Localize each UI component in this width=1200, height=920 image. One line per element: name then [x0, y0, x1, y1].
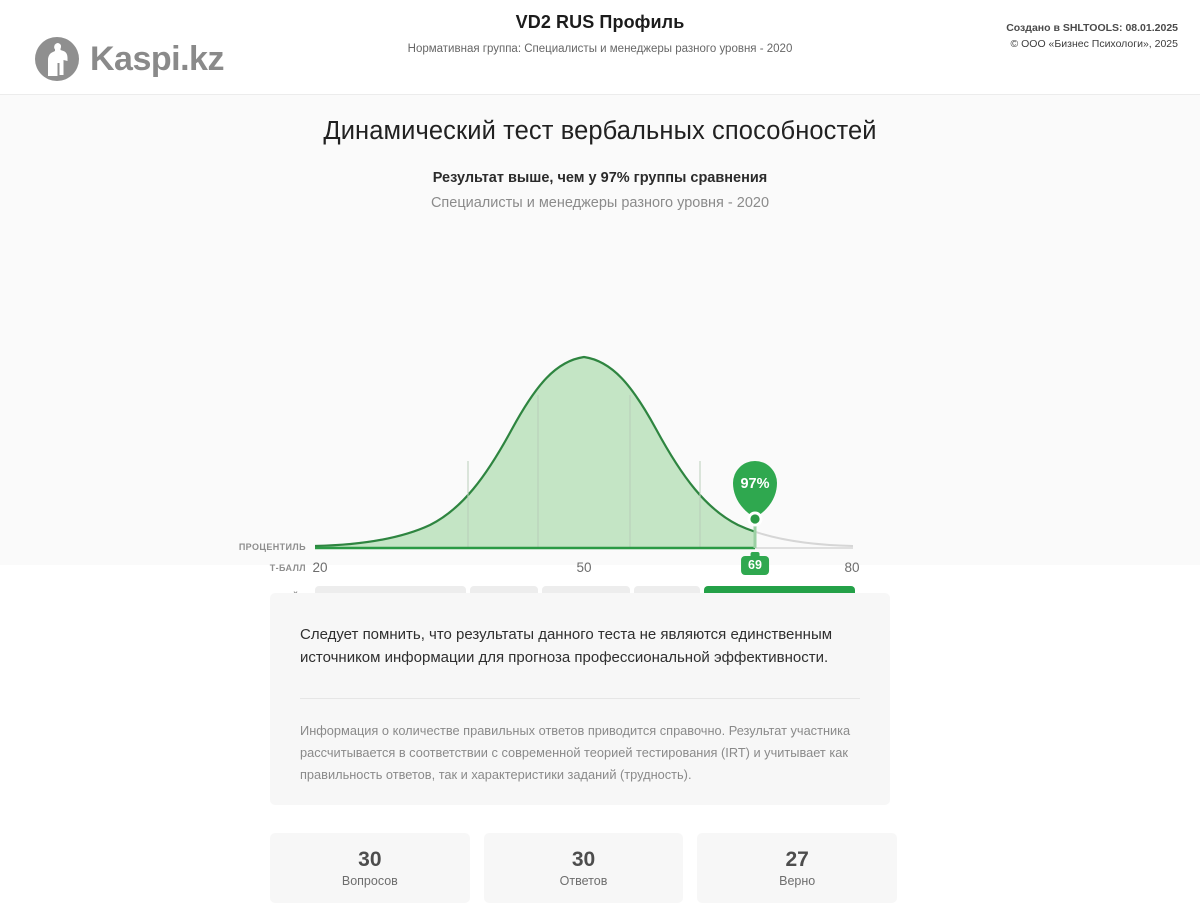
normal-distribution-chart: 97%	[0, 95, 1200, 565]
stat-card-correct: 27 Верно	[697, 833, 897, 903]
page-title: Динамический тест вербальных способносте…	[0, 95, 1200, 146]
stat-value-questions: 30	[358, 849, 381, 870]
marker-dot	[750, 514, 759, 523]
panel-divider	[300, 698, 860, 699]
tscore-tick-80: 80	[844, 560, 859, 575]
stat-card-questions: 30 Вопросов	[270, 833, 470, 903]
marker-dot-halo	[748, 512, 763, 527]
stat-label-questions: Вопросов	[342, 875, 398, 888]
stat-value-correct: 27	[786, 849, 809, 870]
header-meta: Создано в SHLTOOLS: 08.01.2025 © ООО «Би…	[1006, 20, 1178, 53]
distribution-curve-tail	[315, 357, 853, 546]
chart-gridlines	[468, 395, 700, 547]
stats-row: 30 Вопросов 30 Ответов 27 Верно	[270, 833, 897, 903]
comparison-group-label: Специалисты и менеджеры разного уровня -…	[0, 195, 1200, 211]
distribution-fill-area	[315, 357, 853, 548]
percentile-marker-pin: 97%	[733, 461, 777, 518]
chart-section: Динамический тест вербальных способносте…	[0, 95, 1200, 565]
percentile-marker-label: 97%	[740, 476, 769, 492]
tscore-tick-50: 50	[576, 560, 591, 575]
stat-label-answers: Ответов	[560, 875, 608, 888]
disclaimer-main-text: Следует помнить, что результаты данного …	[300, 623, 867, 670]
stat-card-answers: 30 Ответов	[484, 833, 684, 903]
created-timestamp: Создано в SHLTOOLS: 08.01.2025	[1006, 20, 1178, 36]
result-summary: Результат выше, чем у 97% группы сравнен…	[0, 170, 1200, 186]
tscore-result-badge: 69	[741, 556, 769, 575]
stat-value-answers: 30	[572, 849, 595, 870]
tscore-tick-20: 20	[312, 560, 327, 575]
page-header: Kaspi.kz VD2 RUS Профиль Нормативная гру…	[0, 0, 1200, 95]
stat-label-correct: Верно	[779, 875, 815, 888]
axis-label-tscore: Т-БАЛЛ	[216, 563, 306, 573]
disclaimer-panel: Следует помнить, что результаты данного …	[270, 593, 890, 805]
disclaimer-note-text: Информация о количестве правильных ответ…	[300, 720, 870, 786]
axis-label-percentile: ПРОЦЕНТИЛЬ	[216, 542, 306, 552]
distribution-curve-stroke	[315, 357, 853, 546]
copyright-notice: © ООО «Бизнес Психологи», 2025	[1006, 36, 1178, 52]
